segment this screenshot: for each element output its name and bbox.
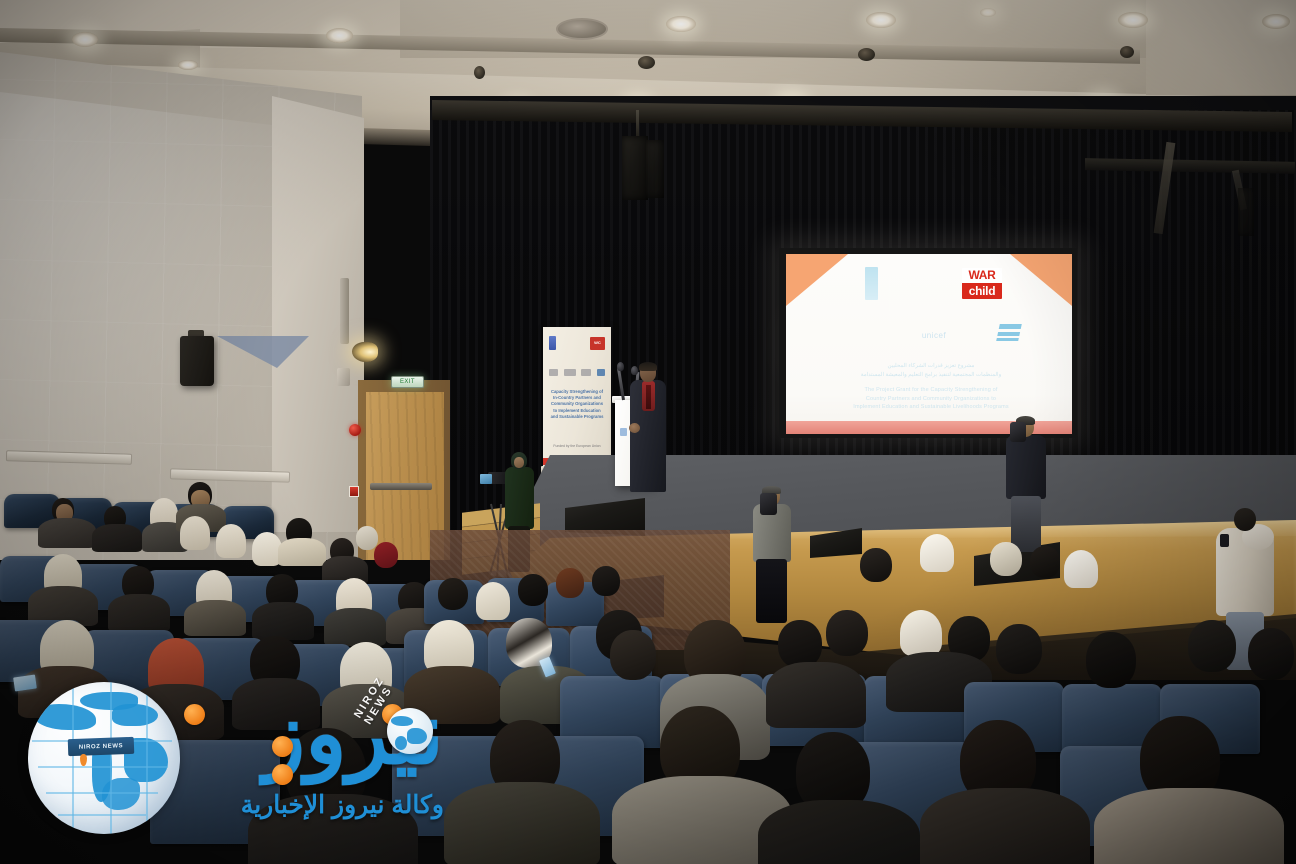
screen-arabic-title: مشروع تعزيز قدرات الشركاء المحليين والمن… — [806, 362, 1056, 379]
downlight-icon — [866, 12, 896, 28]
audience-shoulders — [404, 666, 500, 724]
auditorium-photo: EXIT WAR child unicef مشروع تعزيز قدرات … — [0, 0, 1296, 864]
audience-shoulders — [232, 678, 320, 730]
audience-shoulders — [766, 662, 866, 728]
downlight-icon — [980, 8, 996, 17]
microphone-head-icon — [617, 362, 624, 371]
audience-hijab — [920, 534, 954, 572]
audience-hijab — [216, 524, 246, 558]
audience-head — [518, 574, 548, 606]
audience-hijab — [476, 582, 510, 620]
audience-head — [374, 542, 398, 568]
banner-logo-row-partners — [549, 367, 605, 377]
audience-head — [592, 566, 620, 596]
speaker-hand — [629, 423, 640, 433]
wall-speaker-icon — [180, 336, 214, 386]
audience-shoulders — [92, 524, 142, 552]
speaker-hair — [639, 362, 657, 371]
screen-english-title: The Project Grant for the Capacity Stren… — [806, 386, 1056, 412]
wall-accent-triangle — [217, 336, 309, 368]
audience-head — [438, 578, 468, 610]
eu-logo-icon — [865, 267, 878, 300]
audience-shoulders — [108, 594, 170, 632]
audience-head — [826, 610, 868, 656]
banner-war-child-logo: WC — [590, 337, 605, 350]
audience-shoulders — [18, 666, 110, 718]
audience-shoulders — [324, 608, 386, 646]
banner-partner-logo-icon — [549, 369, 558, 376]
exit-sign-label: EXIT — [400, 379, 415, 385]
downlight-icon — [666, 16, 696, 32]
downlight-icon — [1262, 14, 1290, 29]
audience-shoulders — [1094, 788, 1284, 864]
audience-shoulders — [38, 518, 96, 548]
screen-corner-accent-right — [1010, 254, 1072, 306]
roll-up-banner: WC Capacity Strengthening of In-Country … — [543, 327, 611, 475]
war-child-logo-child: child — [962, 283, 1002, 299]
audience-head — [1086, 632, 1136, 688]
ceiling-vent-icon — [556, 18, 608, 40]
audience-head — [1188, 620, 1236, 672]
audience-head — [556, 568, 584, 598]
banner-logo-row-top: WC — [549, 335, 605, 351]
banner-partner-logo-icon — [564, 369, 576, 376]
speaker-hanging-rod — [636, 110, 639, 138]
stage-spotlight-icon — [352, 342, 378, 362]
wall-column — [272, 96, 364, 532]
stage-light-housing — [337, 368, 350, 386]
audience-hijab — [1064, 550, 1098, 588]
audience-shoulders — [278, 538, 326, 566]
banner-eu-logo-icon — [549, 336, 556, 350]
audience-head — [610, 630, 656, 680]
banner-partner-logo-icon — [581, 369, 591, 376]
stage-light-mount — [340, 278, 349, 344]
downlight-icon — [178, 60, 198, 70]
partner-logo-blue-mark-icon — [996, 324, 1022, 341]
audience-head — [860, 548, 892, 582]
war-child-logo-war: WAR — [962, 268, 1002, 283]
audience-shoulders — [184, 600, 246, 636]
projection-screen: WAR child unicef مشروع تعزيز قدرات الشرك… — [786, 254, 1072, 434]
fire-alarm-bell-icon — [349, 424, 361, 436]
audience-shoulders — [758, 800, 920, 864]
audience-shoulders — [128, 684, 224, 740]
downlight-icon — [1118, 12, 1148, 28]
ceiling-spot-icon — [1120, 46, 1134, 58]
war-child-logo: WAR child — [962, 268, 1002, 299]
audience-shoulders — [920, 788, 1090, 864]
audience-head — [778, 620, 822, 668]
screen-corner-accent-left — [786, 254, 848, 306]
camera-icon — [1010, 422, 1026, 442]
banner-headline: Capacity Strengthening of In-Country Par… — [549, 389, 605, 420]
audience-area — [0, 470, 1296, 864]
hanging-speaker-icon — [646, 140, 664, 198]
lectern-logo-icon — [620, 428, 627, 436]
exit-sign: EXIT — [391, 376, 424, 388]
audience-shoulders — [248, 794, 418, 864]
ceiling-spot-icon — [474, 66, 485, 79]
ceiling-spot-icon — [858, 48, 875, 61]
speaker-tie — [646, 385, 651, 409]
hanging-speaker-icon — [1238, 188, 1254, 236]
audience-head — [990, 542, 1022, 576]
operator-face — [514, 457, 524, 468]
banner-footer-note: Funded by the European Union — [549, 444, 605, 449]
audience-shoulders — [252, 602, 314, 640]
audience-hijab — [900, 610, 942, 656]
hanging-speaker-icon — [622, 136, 648, 200]
ceiling-spot-icon — [638, 56, 655, 69]
banner-partner-logo-icon — [597, 369, 605, 376]
partner-logo-mid: unicef — [904, 327, 964, 345]
audience-shoulders — [444, 782, 600, 864]
audience-head — [996, 624, 1042, 674]
downlight-icon — [326, 28, 353, 43]
audience-head — [1030, 546, 1060, 578]
audience-head — [1248, 628, 1294, 680]
audience-head — [356, 526, 378, 550]
audience-hijab — [180, 516, 210, 550]
downlight-icon — [72, 32, 98, 47]
